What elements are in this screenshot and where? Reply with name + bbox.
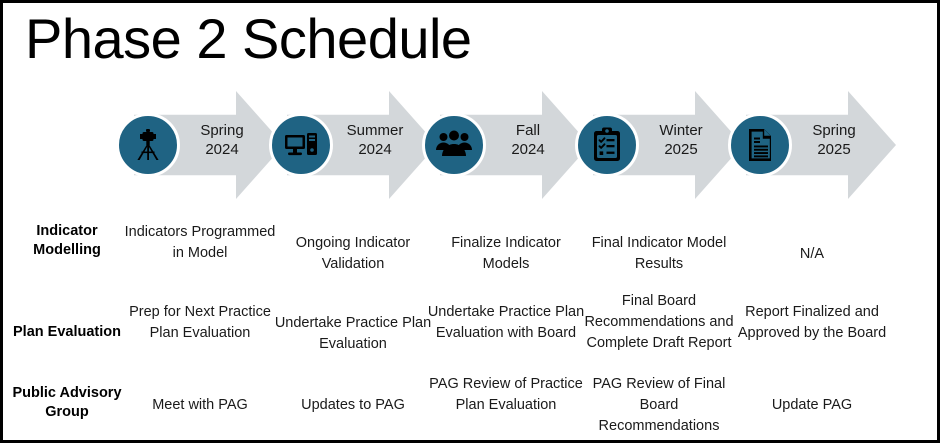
desktop-computer-icon xyxy=(269,113,333,177)
timeline-stage-3[interactable]: Fall 2024 xyxy=(422,91,590,199)
cell-r1c1: Indicators Programmed in Model xyxy=(120,222,280,264)
cell-r3c4: PAG Review of Final Board Recommendation… xyxy=(579,374,739,437)
cell-r1c5: N/A xyxy=(732,244,892,265)
page-title: Phase 2 Schedule xyxy=(25,7,472,71)
row-label-public-advisory-group: Public Advisory Group xyxy=(3,384,131,422)
cell-r1c3: Finalize Indicator Models xyxy=(426,233,586,275)
phase-2-schedule-slide: Phase 2 Schedule xyxy=(0,0,940,443)
cell-r2c1: Prep for Next Practice Plan Evaluation xyxy=(120,302,280,344)
stage-season: Fall xyxy=(492,121,564,140)
stage-year: 2025 xyxy=(798,140,870,159)
timeline-stage-5[interactable]: Spring 2025 xyxy=(728,91,896,199)
stage-season: Summer xyxy=(339,121,411,140)
stage-year: 2024 xyxy=(186,140,258,159)
stage-label: Summer 2024 xyxy=(339,121,411,159)
cell-r1c4: Final Indicator Model Results xyxy=(579,233,739,275)
stage-season: Spring xyxy=(186,121,258,140)
timeline-stage-1[interactable]: Spring 2024 xyxy=(116,91,284,199)
cell-r2c3: Undertake Practice Plan Evaluation with … xyxy=(426,302,586,344)
stage-label: Spring 2024 xyxy=(186,121,258,159)
clipboard-checklist-icon xyxy=(575,113,639,177)
stage-year: 2024 xyxy=(492,140,564,159)
schedule-matrix: Indicator Modelling Indicators Programme… xyxy=(3,208,940,443)
row-label-plan-evaluation: Plan Evaluation xyxy=(3,323,131,342)
surveyor-tripod-icon xyxy=(116,113,180,177)
cell-r2c4: Final Board Recommendations and Complete… xyxy=(579,291,739,354)
stage-year: 2025 xyxy=(645,140,717,159)
row-label-indicator-modelling: Indicator Modelling xyxy=(3,222,131,260)
cell-r3c5: Update PAG xyxy=(732,395,892,416)
stage-season: Spring xyxy=(798,121,870,140)
stage-label: Spring 2025 xyxy=(798,121,870,159)
stage-year: 2024 xyxy=(339,140,411,159)
cell-r2c2: Undertake Practice Plan Evaluation xyxy=(273,313,433,355)
timeline-stage-4[interactable]: Winter 2025 xyxy=(575,91,743,199)
cell-r3c2: Updates to PAG xyxy=(273,395,433,416)
timeline-band: Spring 2024 xyxy=(3,91,940,199)
cell-r3c1: Meet with PAG xyxy=(120,395,280,416)
group-of-people-icon xyxy=(422,113,486,177)
cell-r2c5: Report Finalized and Approved by the Boa… xyxy=(732,302,892,344)
document-report-icon xyxy=(728,113,792,177)
stage-season: Winter xyxy=(645,121,717,140)
cell-r3c3: PAG Review of Practice Plan Evaluation xyxy=(426,374,586,416)
cell-r1c2: Ongoing Indicator Validation xyxy=(273,233,433,275)
stage-label: Winter 2025 xyxy=(645,121,717,159)
stage-label: Fall 2024 xyxy=(492,121,564,159)
timeline-stage-2[interactable]: Summer 2024 xyxy=(269,91,437,199)
